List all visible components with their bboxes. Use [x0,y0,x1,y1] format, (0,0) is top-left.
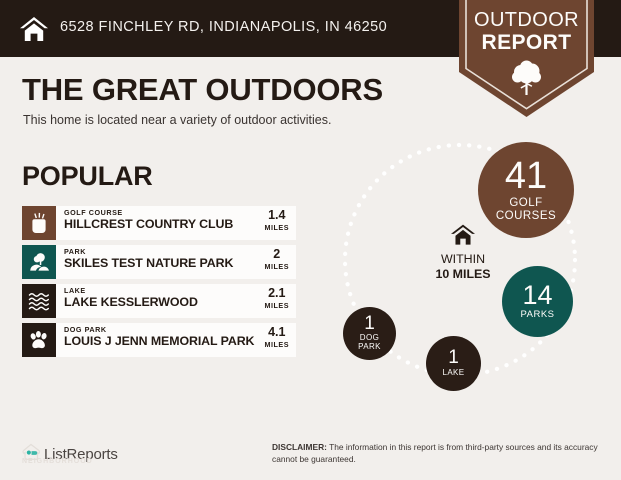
bubble-label-line1: PARKS [520,310,554,320]
list-item[interactable]: PARK SKILES TEST NATURE PARK 2 MILES [22,245,296,279]
tree-icon [510,60,544,96]
outdoor-report-page: 6528 FINCHLEY RD, INDIANAPOLIS, IN 46250… [0,0,621,480]
list-item-body: DOG PARK LOUIS J JENN MEMORIAL PARK [56,323,262,357]
bubble-label-line1: GOLF [509,197,542,209]
property-address: 6528 FINCHLEY RD, INDIANAPOLIS, IN 46250 [60,19,387,35]
list-item-category: PARK [64,248,262,255]
center-line1: WITHIN [413,252,513,267]
list-item-body: GOLF COURSE HILLCREST COUNTRY CLUB [56,206,262,240]
list-item-body: LAKE LAKE KESSLERWOOD [56,284,262,318]
listreports-tagline: NEIGHBORHOOD [22,458,93,465]
page-title: THE GREAT OUTDOORS [22,72,383,108]
distance-value: 1.4 [265,209,289,222]
infographic-center: WITHIN 10 MILES [413,223,513,282]
badge-text: OUTDOOR REPORT [459,10,594,54]
list-item-category: LAKE [64,287,262,294]
distance-unit: MILES [265,223,289,232]
bubble-label-line2: COURSES [496,210,556,222]
distance-unit: MILES [265,262,289,271]
distance-unit: MILES [265,340,289,349]
bubble-label-line1: LAKE [442,369,464,378]
list-item-name: LAKE KESSLERWOOD [64,296,262,310]
list-item-distance: 2.1 MILES [262,284,296,318]
home-icon [18,13,50,45]
list-item[interactable]: GOLF COURSE HILLCREST COUNTRY CLUB 1.4 M… [22,206,296,240]
list-item[interactable]: LAKE LAKE KESSLERWOOD 2.1 MILES [22,284,296,318]
center-line2: 10 MILES [435,267,490,281]
park-tree-icon [22,245,56,279]
water-waves-icon [22,284,56,318]
badge-line1: OUTDOOR [459,10,594,32]
popular-list: GOLF COURSE HILLCREST COUNTRY CLUB 1.4 M… [22,206,296,362]
distance-unit: MILES [265,301,289,310]
list-item-distance: 4.1 MILES [262,323,296,357]
list-item-distance: 1.4 MILES [262,206,296,240]
list-item-category: DOG PARK [64,326,262,333]
amenities-infographic: 41 GOLF COURSES 14 PARKS 1 DOG PARK 1 LA… [330,138,610,410]
disclaimer: DISCLAIMER: The information in this repo… [272,442,602,466]
list-item-name: SKILES TEST NATURE PARK [64,257,262,271]
bubble-dog-park[interactable]: 1 DOG PARK [343,307,396,360]
outdoor-report-badge: OUTDOOR REPORT [459,0,594,117]
bubble-value: 1 [364,315,375,333]
badge-line2: REPORT [459,32,594,55]
list-item-body: PARK SKILES TEST NATURE PARK [56,245,262,279]
list-item-category: GOLF COURSE [64,209,262,216]
list-item-distance: 2 MILES [262,245,296,279]
paw-print-icon [22,323,56,357]
home-icon [450,234,476,251]
page-subtitle: This home is located near a variety of o… [23,113,331,127]
distance-value: 2 [265,248,289,261]
disclaimer-label: DISCLAIMER: [272,442,327,452]
distance-value: 2.1 [265,287,289,300]
bubble-value: 41 [505,158,547,194]
bubble-lake[interactable]: 1 LAKE [426,336,481,391]
list-item-name: HILLCREST COUNTRY CLUB [64,218,262,232]
bubble-label-line2: PARK [358,343,381,352]
bubble-value: 14 [522,283,552,309]
list-item[interactable]: DOG PARK LOUIS J JENN MEMORIAL PARK 4.1 … [22,323,296,357]
golf-bag-icon [22,206,56,240]
distance-value: 4.1 [265,326,289,339]
popular-heading: POPULAR [22,161,153,192]
bubble-value: 1 [448,349,459,367]
list-item-name: LOUIS J JENN MEMORIAL PARK [64,335,262,349]
